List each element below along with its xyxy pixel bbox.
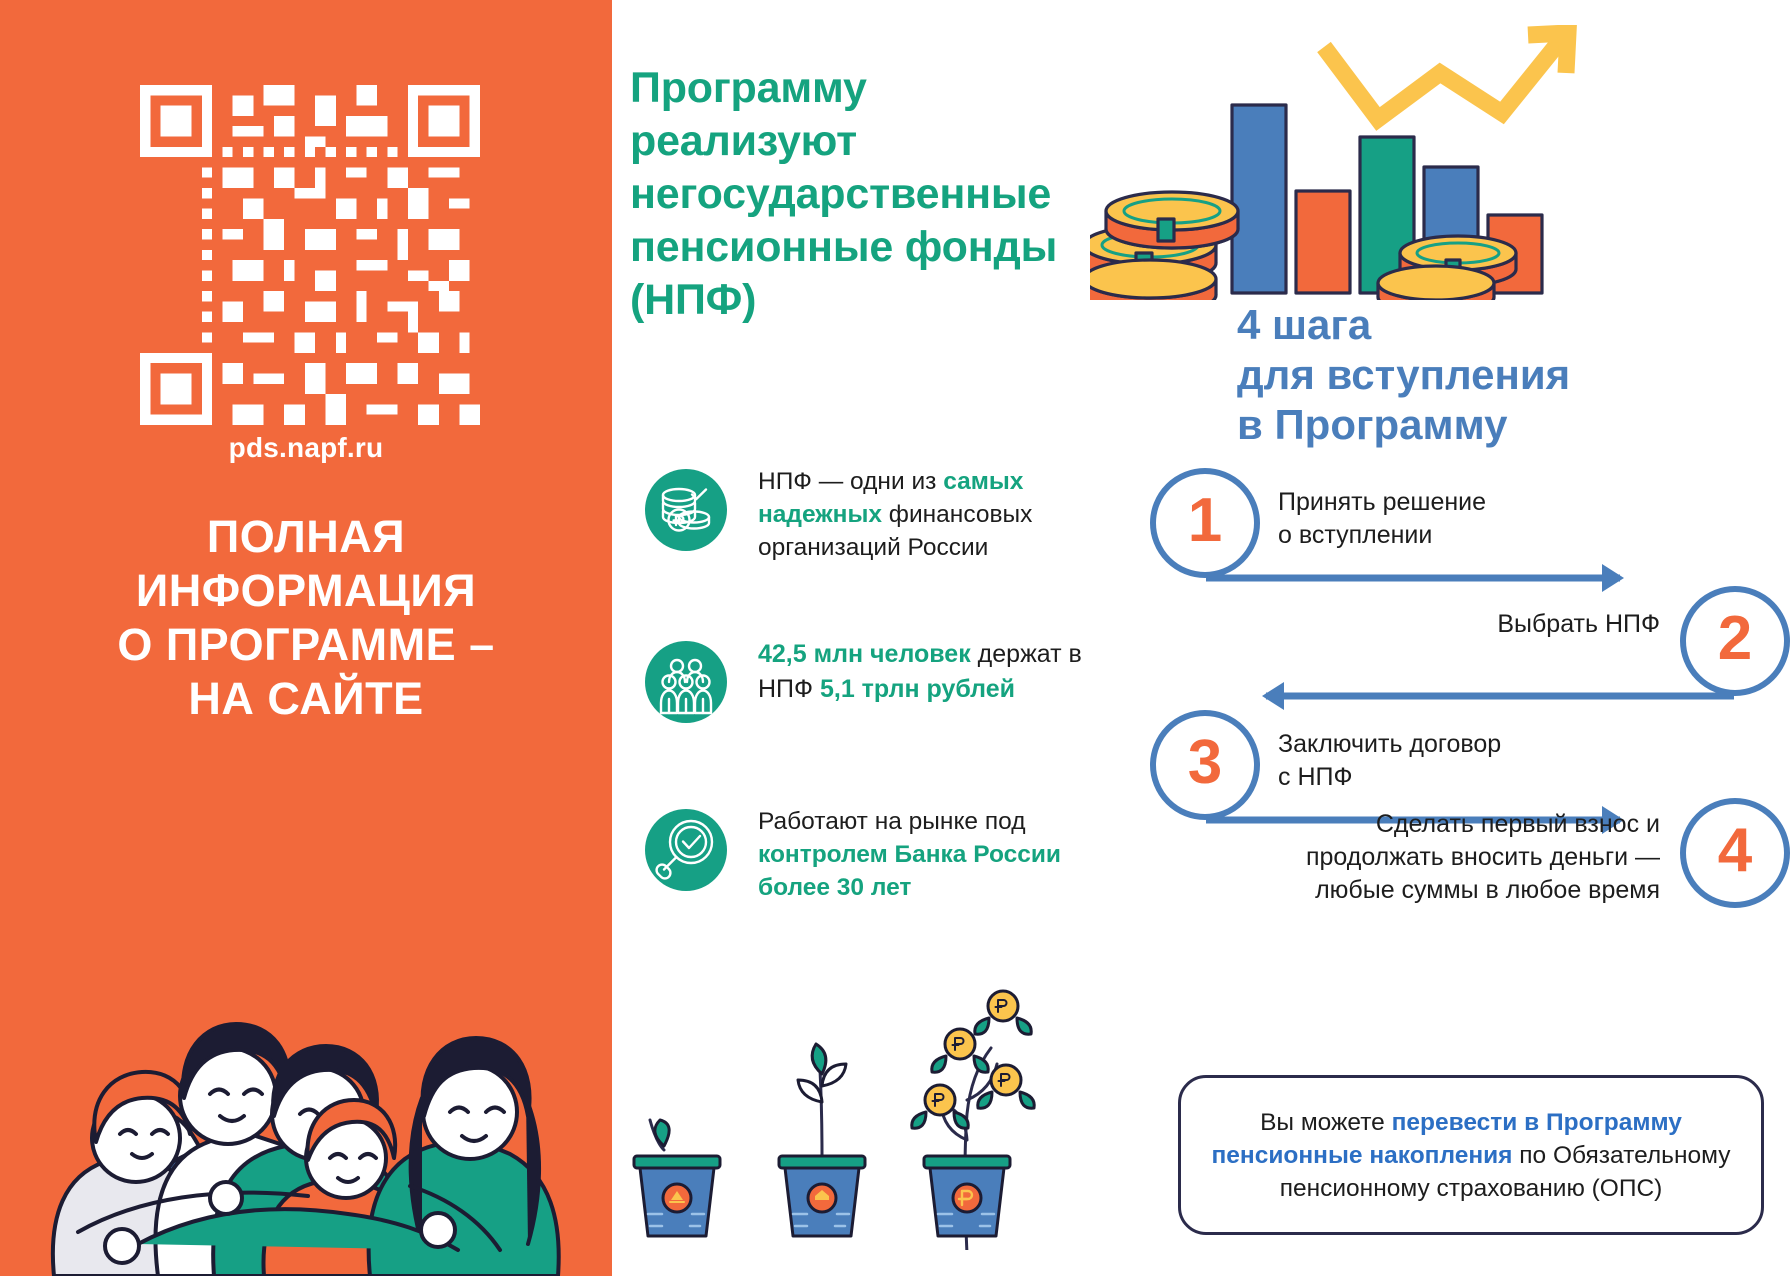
step-number-4: 4	[1718, 820, 1752, 882]
step-3-line-1: Заключить договор	[1278, 728, 1608, 761]
money-plants-illustration	[630, 950, 1100, 1250]
step-4-line-2: продолжать вносить деньги —	[1190, 841, 1660, 874]
step-circle-4: 4	[1680, 798, 1790, 908]
middle-title-line-3: негосударственные	[630, 168, 1100, 221]
bullet-2-part-3: 5,1 трлн рублей	[820, 675, 1015, 703]
bullet-1-part-1: НПФ — одни из	[758, 468, 943, 495]
step-4-line-3: любые суммы в любое время	[1190, 874, 1660, 907]
headline-line-3: О ПРОГРАММЕ –	[40, 618, 572, 672]
middle-title: Программу реализуют негосударственные пе…	[630, 62, 1100, 327]
bar-chart-with-coins-illustration	[1090, 25, 1650, 300]
step-text-3: Заключить договор с НПФ	[1278, 728, 1608, 794]
step-4-line-1: Сделать первый взнос и	[1190, 808, 1660, 841]
headline-line-4: НА САЙТЕ	[40, 672, 572, 726]
magnifier-check-icon	[645, 809, 727, 891]
steps-title-line-3: в Программу	[1237, 400, 1717, 450]
middle-title-line-1: Программу	[630, 62, 1100, 115]
infographic-page: pds.napf.ru ПОЛНАЯ ИНФОРМАЦИЯ О ПРОГРАММ…	[0, 0, 1790, 1276]
qr-code-icon[interactable]	[140, 85, 480, 425]
step-circle-2: 2	[1680, 586, 1790, 696]
note-callout-box: Вы можете перевести в Программу пенсионн…	[1178, 1075, 1764, 1235]
bullet-list: НПФ — одни из самых надежных финансовых …	[645, 465, 1085, 977]
list-item-text: 42,5 млн человек держат в НПФ 5,1 трлн р…	[758, 637, 1085, 707]
headline-line-2: ИНФОРМАЦИЯ	[40, 564, 572, 618]
coins-check-icon	[645, 469, 727, 551]
step-text-4: Сделать первый взнос и продолжать вносит…	[1190, 808, 1660, 907]
left-orange-panel: pds.napf.ru ПОЛНАЯ ИНФОРМАЦИЯ О ПРОГРАММ…	[0, 0, 612, 1276]
step-text-1: Принять решение о вступлении	[1278, 486, 1578, 552]
step-1-line-1: Принять решение	[1278, 486, 1578, 519]
list-item: Работают на рынке под контролем Банка Ро…	[645, 805, 1085, 904]
list-item-text: Работают на рынке под контролем Банка Ро…	[758, 805, 1085, 904]
bullet-3-part-1: Работают на рынке под	[758, 808, 1026, 835]
steps-title-line-2: для вступления	[1237, 350, 1717, 400]
step-1-line-2: о вступлении	[1278, 519, 1578, 552]
step-number-3: 3	[1188, 732, 1222, 794]
bullet-3-part-2: контролем Банка России более 30 лет	[758, 841, 1061, 901]
middle-title-line-4: пенсионные фонды	[630, 221, 1100, 274]
headline-line-1: ПОЛНАЯ	[40, 510, 572, 564]
people-group-icon	[645, 641, 727, 723]
people-hugging-illustration	[18, 846, 598, 1276]
step-circle-3: 3	[1150, 710, 1260, 820]
note-text: Вы можете перевести в Программу пенсионн…	[1203, 1106, 1739, 1205]
middle-title-line-5: (НПФ)	[630, 274, 1100, 327]
step-2-line-1: Выбрать НПФ	[1310, 608, 1660, 641]
steps-title-line-1: 4 шага	[1237, 300, 1717, 350]
middle-title-line-2: реализуют	[630, 115, 1100, 168]
list-item: 42,5 млн человек держат в НПФ 5,1 трлн р…	[645, 637, 1085, 732]
steps-flow: 1 Принять решение о вступлении 2 Выбрать…	[1150, 468, 1790, 908]
site-url[interactable]: pds.napf.ru	[0, 432, 612, 464]
list-item-text: НПФ — одни из самых надежных финансовых …	[758, 465, 1085, 564]
steps-title: 4 шага для вступления в Программу	[1237, 300, 1717, 450]
page-title: ПОЛНАЯ ИНФОРМАЦИЯ О ПРОГРАММЕ – НА САЙТЕ	[40, 510, 572, 726]
step-circle-1: 1	[1150, 468, 1260, 578]
note-part-1: Вы можете	[1260, 1109, 1392, 1136]
step-text-2: Выбрать НПФ	[1310, 608, 1660, 641]
step-3-line-2: с НПФ	[1278, 761, 1608, 794]
list-item: НПФ — одни из самых надежных финансовых …	[645, 465, 1085, 564]
step-number-2: 2	[1718, 608, 1752, 670]
step-number-1: 1	[1188, 490, 1222, 552]
bullet-2-part-1: 42,5 млн человек	[758, 640, 971, 668]
